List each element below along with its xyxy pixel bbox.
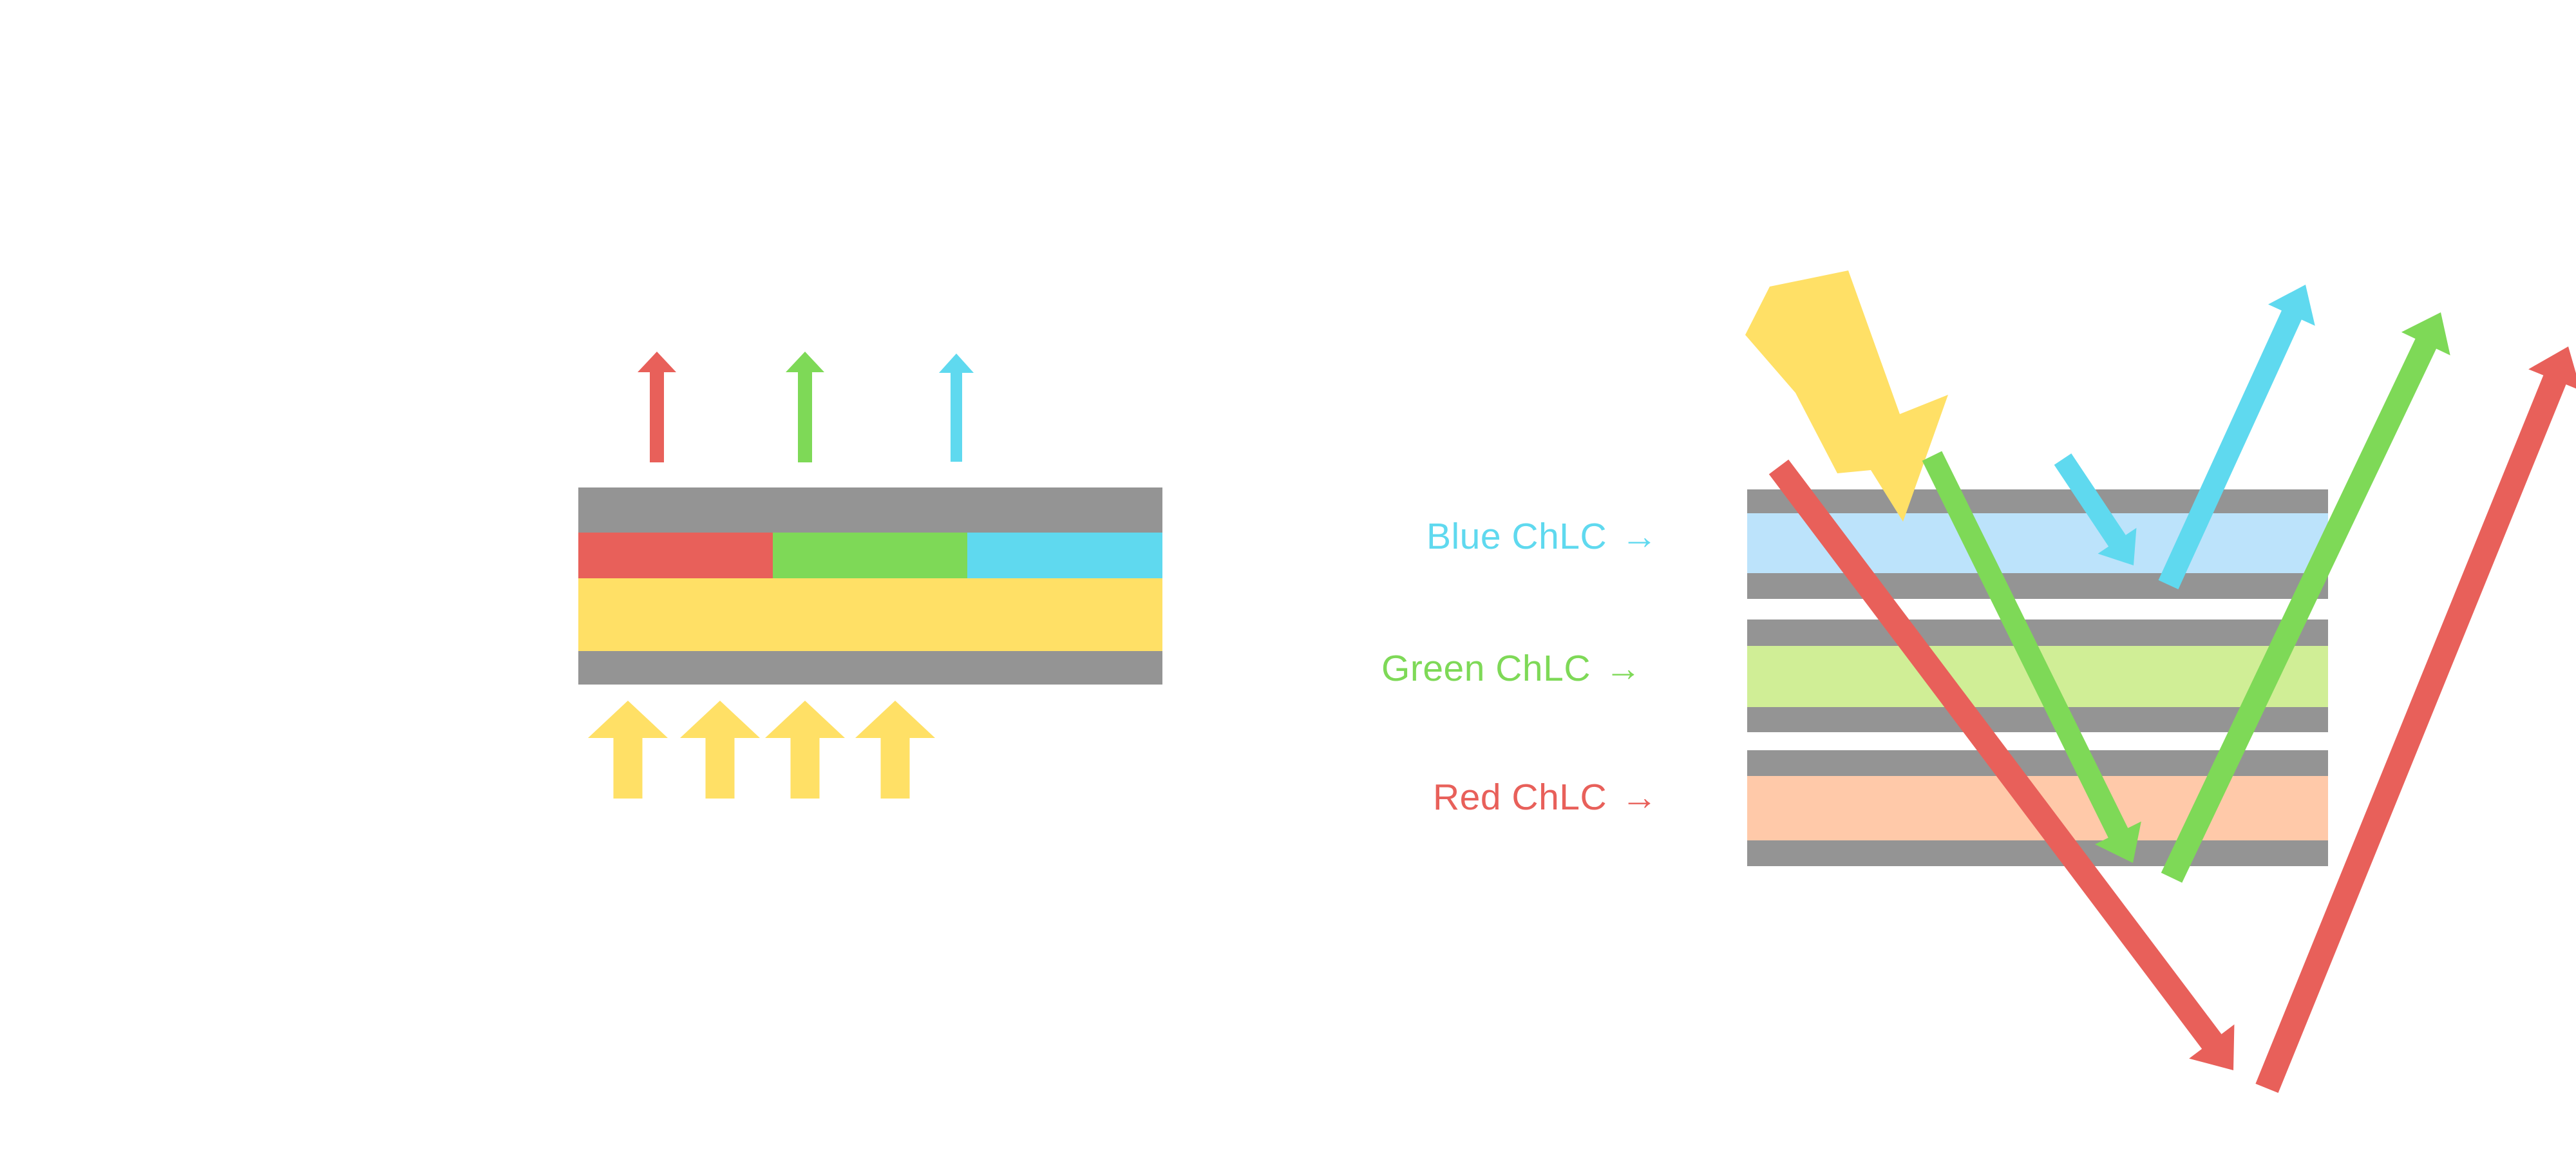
red-incident-ray [1769, 460, 2235, 1070]
backlight-arrow-4-head [855, 701, 935, 738]
green-chlc-label: Green ChLC → [1381, 647, 1642, 690]
red-chlc-label: Red ChLC → [1433, 776, 1658, 818]
diagram-canvas: Blue ChLC → Green ChLC → Red ChLC → [0, 0, 2576, 1154]
green-chlc-label-arrow-icon: → [1605, 647, 1642, 690]
green-emission-arrow [779, 352, 831, 462]
backlight-arrow-3 [760, 701, 850, 799]
blue-chlc-label: Blue ChLC → [1426, 515, 1658, 558]
backlight-arrow-1-shaft [614, 737, 643, 799]
backlight-arrow-3-head [765, 701, 845, 738]
red-emission-arrow-shaft [650, 372, 664, 462]
cyan-emission-arrow-shaft [951, 372, 962, 462]
green-emission-arrow-shaft [798, 372, 812, 462]
backlight-arrow-1-head [588, 701, 668, 738]
backlight-arrow-2-head [680, 701, 760, 738]
blue-chlc-label-arrow-icon: → [1621, 515, 1658, 558]
incident-white-light-arrow [1745, 270, 1948, 522]
left-bottom-electrode [578, 651, 1162, 685]
green-emission-arrow-head [786, 352, 824, 372]
green-subpixel [773, 533, 967, 578]
red-subpixel [578, 533, 773, 578]
red-chlc-label-arrow-icon: → [1621, 776, 1658, 818]
blue-incident-ray [2054, 453, 2137, 565]
red-reflected-ray [2255, 346, 2576, 1093]
green-chlc-label-text: Green ChLC [1381, 650, 1591, 687]
rgb-color-filter-row [578, 533, 1162, 578]
yellow-backlight-layer [578, 578, 1162, 651]
left-top-electrode [578, 487, 1162, 533]
backlight-arrow-1 [583, 701, 673, 799]
blue-reflected-ray [2159, 285, 2315, 589]
backlight-arrow-2-shaft [706, 737, 735, 799]
green-reflected-ray [2161, 312, 2450, 883]
cyan-emission-arrow-head [939, 354, 974, 373]
blue-subpixel [967, 533, 1162, 578]
emissive-rgb-backlit-stack [578, 487, 1162, 685]
light-ray-overlay [1739, 258, 2383, 876]
red-emission-arrow-head [638, 352, 676, 372]
cyan-emission-arrow [931, 354, 982, 462]
red-chlc-label-text: Red ChLC [1433, 779, 1607, 816]
backlight-arrow-4-shaft [881, 737, 910, 799]
backlight-arrow-4 [850, 701, 940, 799]
backlight-arrow-3-shaft [791, 737, 820, 799]
backlight-arrow-2 [675, 701, 765, 799]
red-emission-arrow [631, 352, 683, 462]
blue-chlc-label-text: Blue ChLC [1426, 518, 1607, 555]
